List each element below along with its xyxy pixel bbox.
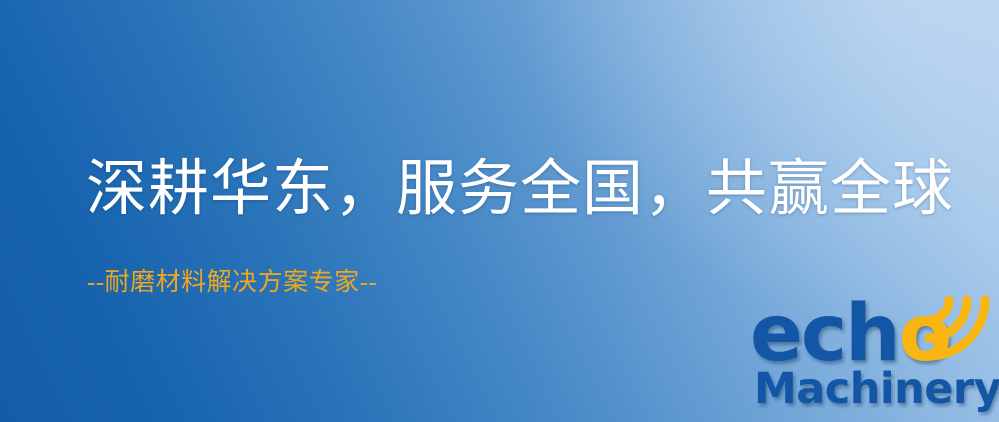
banner-headline: 深耕华东，服务全国，共赢全球 — [86, 154, 954, 226]
logo-mark: echo Machinery® — [745, 296, 999, 422]
logo-brand-word-line: Machinery® — [754, 362, 999, 413]
logo-brand-word: Machinery — [754, 364, 999, 414]
promo-banner: 深耕华东，服务全国，共赢全球 --耐磨材料解决方案专家-- echo Machi… — [0, 0, 999, 422]
banner-subheadline: --耐磨材料解决方案专家-- — [87, 268, 377, 298]
company-logo[interactable]: echo Machinery® — [745, 296, 999, 422]
echo-wave-arcs-icon — [921, 292, 999, 366]
